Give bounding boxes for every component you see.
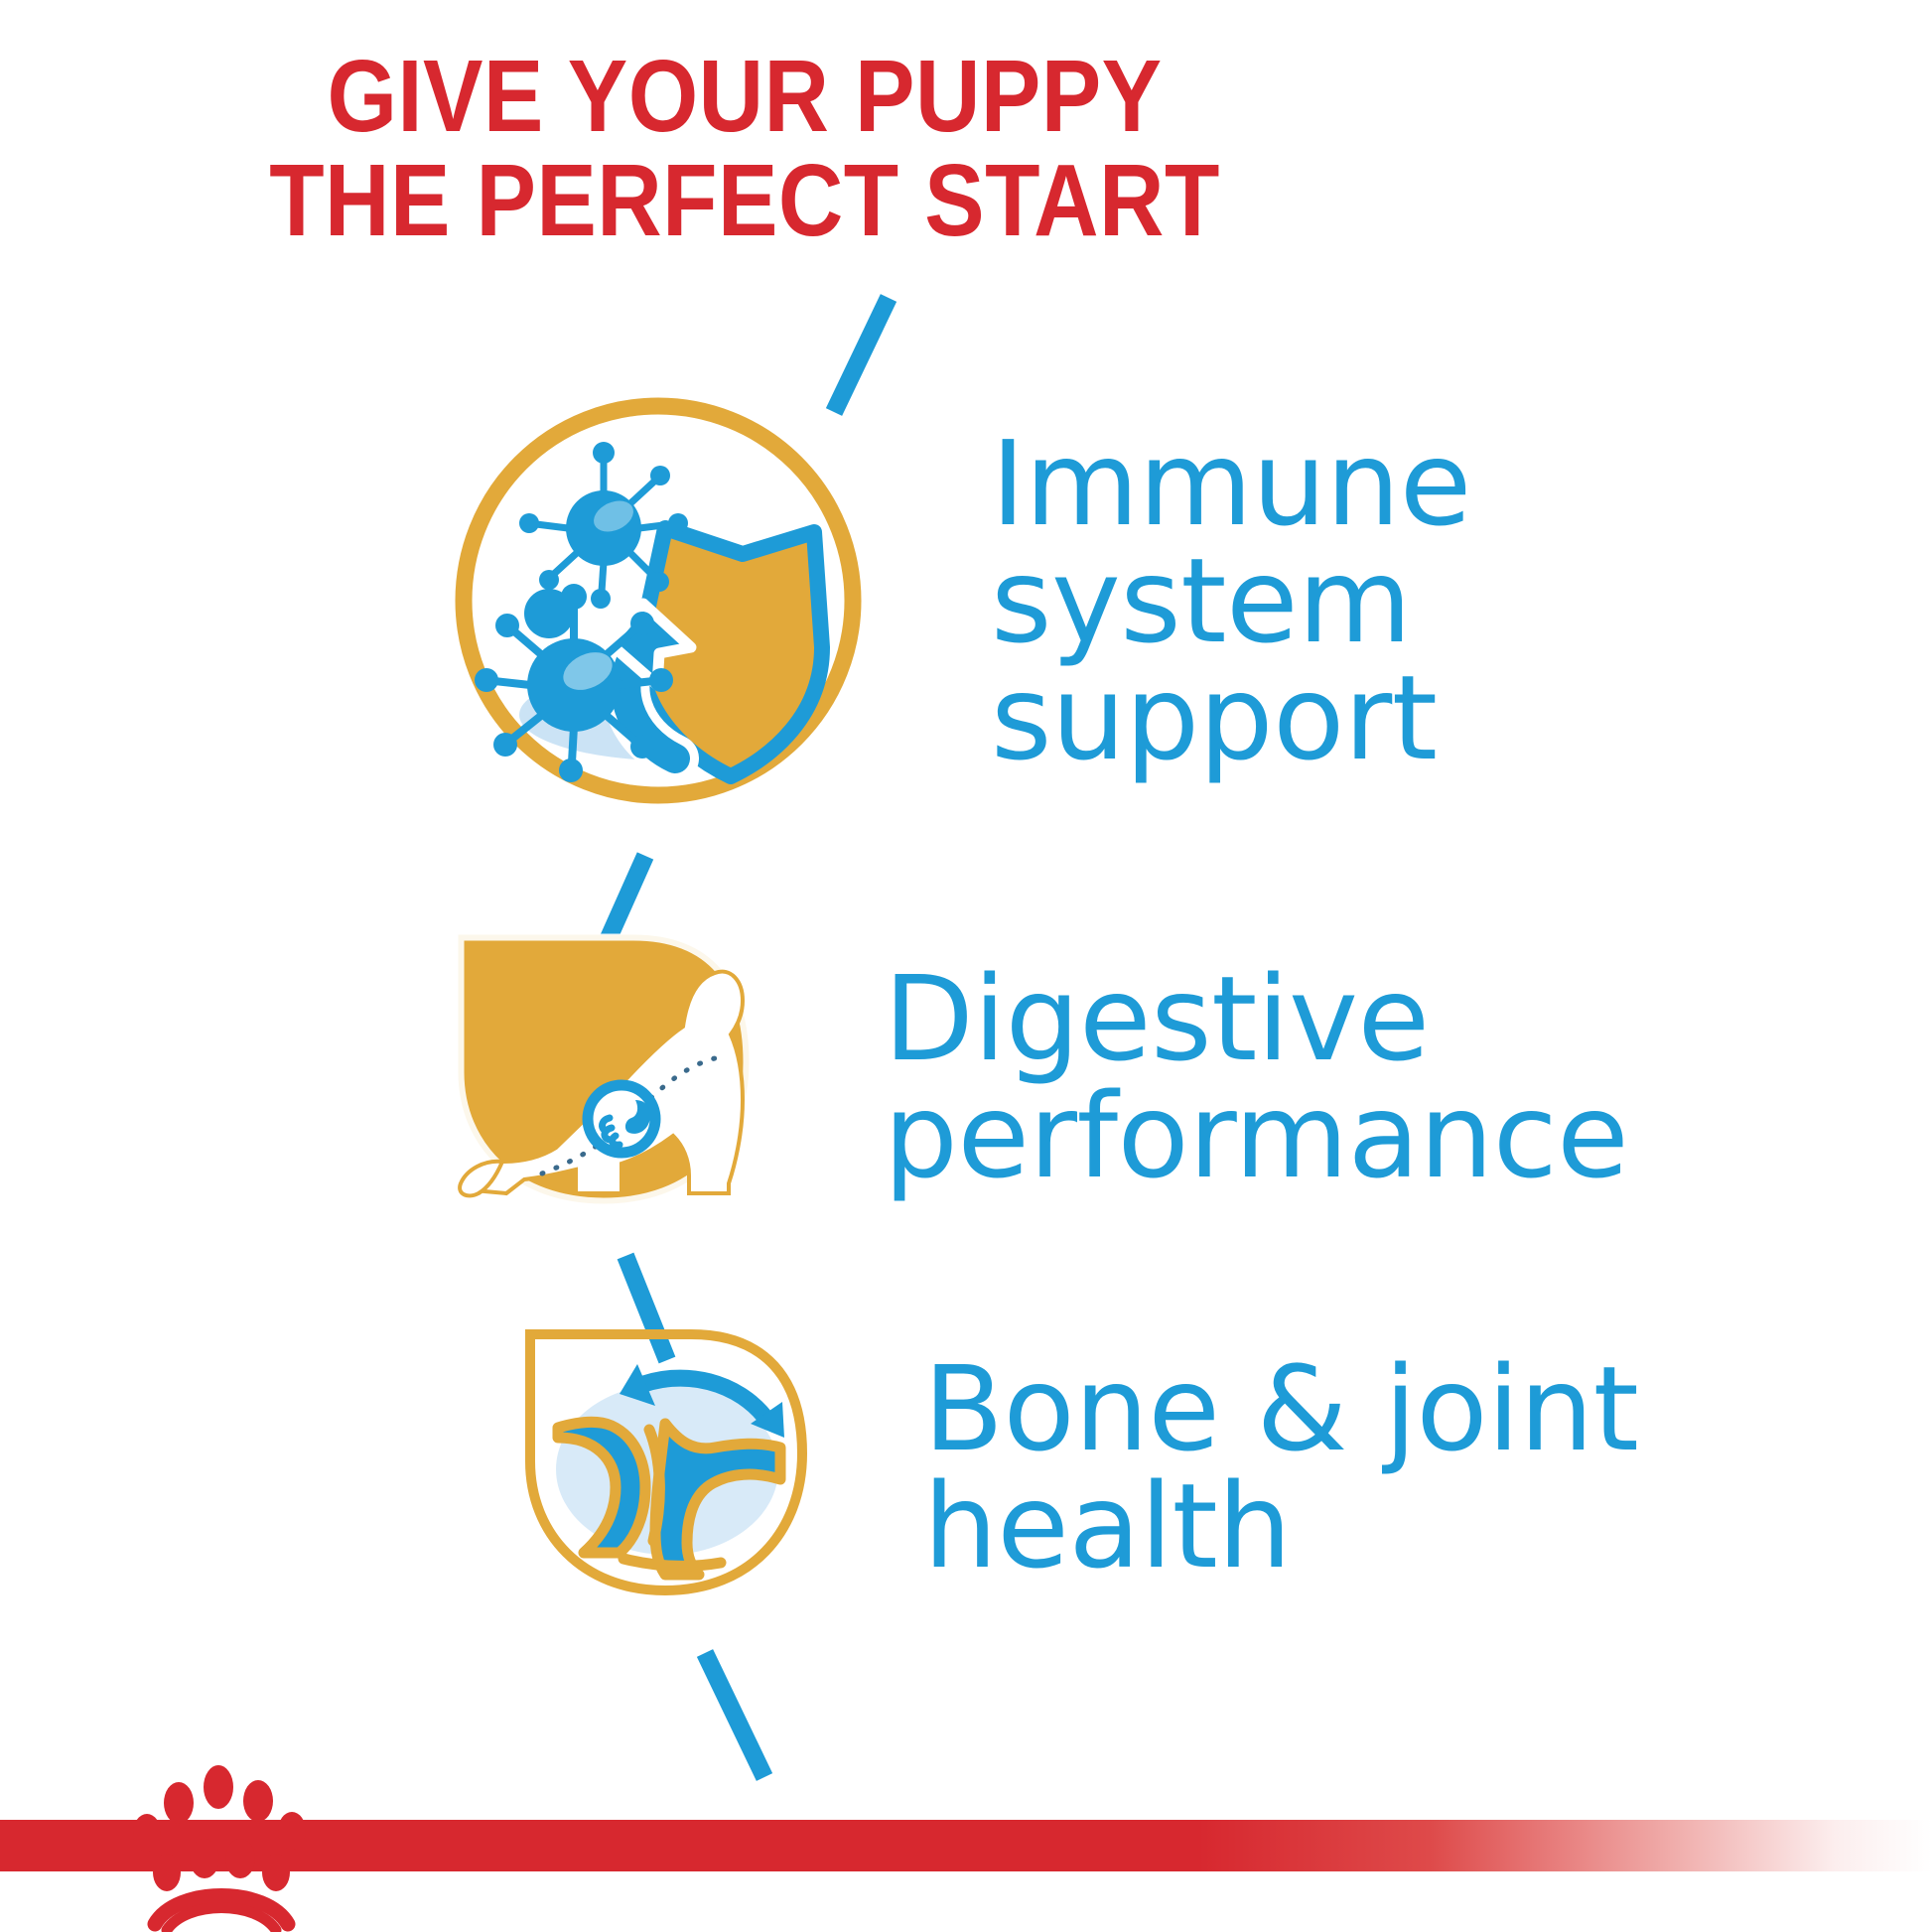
benefit-row-digestive: Digestive performance	[445, 923, 1628, 1226]
promo-infographic: GIVE YOUR PUPPY THE PERFECT START	[0, 0, 1932, 1932]
stomach-badge-icon	[588, 1085, 655, 1153]
benefit-label-digestive: Digestive performance	[884, 960, 1628, 1194]
immune-shield-virus-icon	[445, 387, 872, 819]
benefit-row-immune: Immune system support	[445, 387, 1471, 819]
benefit-row-bone: Bone & joint health	[516, 1320, 1638, 1613]
bone-joint-icon	[516, 1320, 814, 1613]
digestive-dog-stomach-icon	[445, 923, 762, 1226]
virus-particle-icon	[475, 584, 673, 782]
connector-segment	[705, 1653, 764, 1777]
virus-particle-icon	[519, 442, 688, 609]
benefit-label-bone: Bone & joint health	[923, 1350, 1638, 1585]
royal-canin-crown-logo	[127, 1759, 316, 1932]
page-title: GIVE YOUR PUPPY THE PERFECT START	[89, 44, 1400, 252]
benefit-label-immune: Immune system support	[991, 425, 1471, 776]
